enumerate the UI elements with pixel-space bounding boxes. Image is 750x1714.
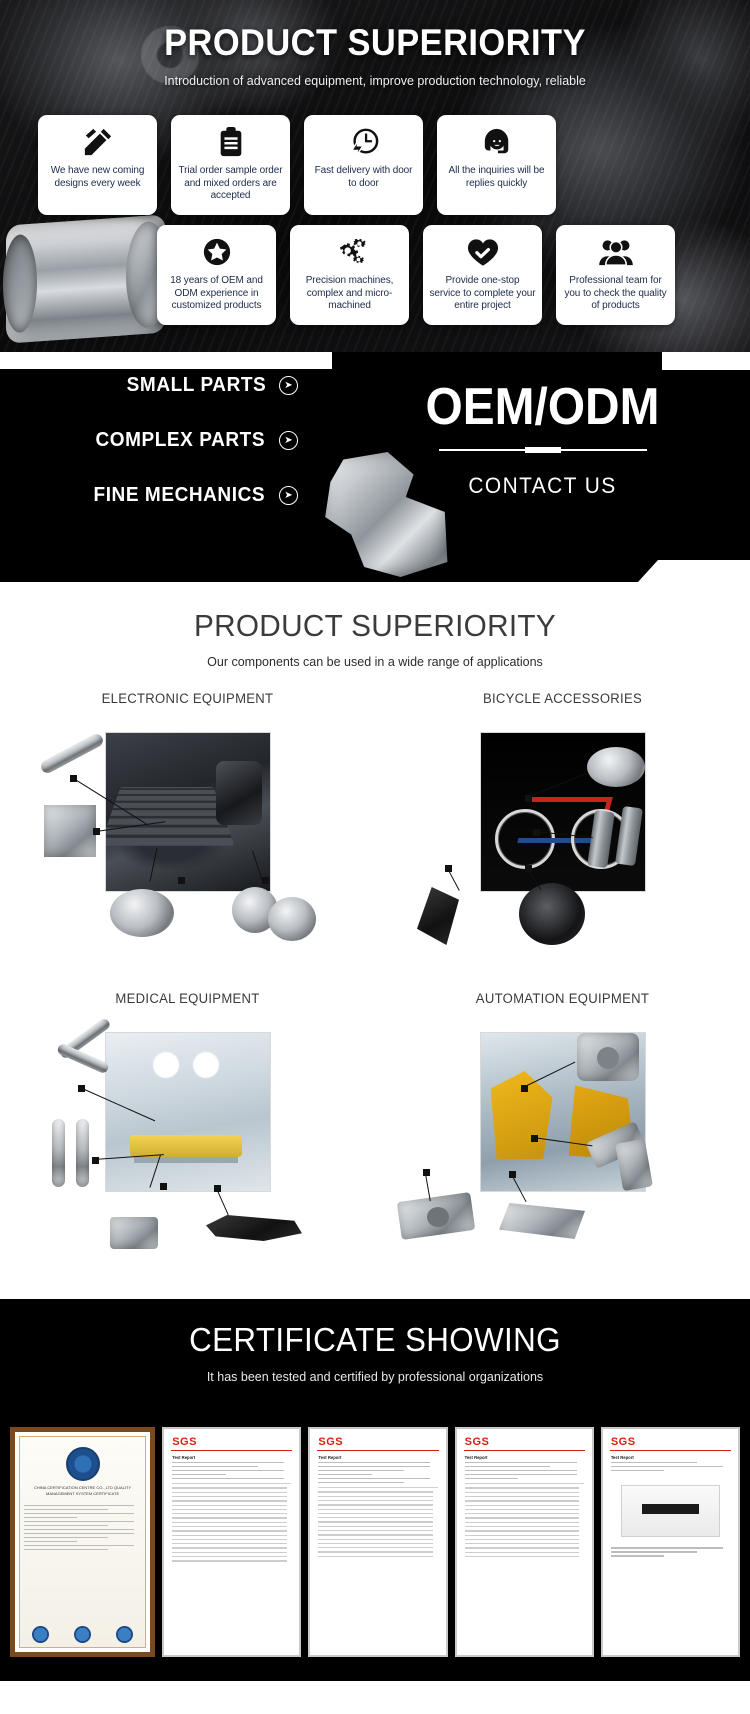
feature-card-text: All the inquiries will be replies quickl… [443,165,550,190]
feature-card[interactable]: Professional team for you to check the q… [556,225,675,325]
feature-card-text: Professional team for you to check the q… [562,275,669,313]
certificate-heading: Test Report [607,1455,734,1462]
certificate-heading: Test Report [314,1455,441,1462]
certificate-image: SGS Test Report [607,1433,734,1651]
divider [171,1450,292,1451]
certificate-body-lines [461,1462,588,1479]
feature-card[interactable]: Fast delivery with door to door [304,115,423,215]
chevron-right-circle-icon: ➤ [279,376,298,395]
chevron-right-circle-icon: ➤ [279,486,298,505]
bottom-bracket-cover-part [519,883,585,945]
callout-dot [262,877,269,884]
oem-service-label: FINE MECHANICS [94,484,266,507]
people-group-icon [599,235,633,269]
feature-card[interactable]: Trial order sample order and mixed order… [171,115,290,215]
application-label: BICYCLE ACCESSORIES [381,691,745,706]
flange-bore [597,1047,619,1069]
certificate-heading: CHINA CERTIFICATION CENTRE CO., LTD QUAL… [20,1485,145,1497]
callout-dot [423,1169,430,1176]
hero-subtitle: Introduction of advanced equipment, impr… [15,73,735,88]
callout-dot [93,828,100,835]
application-cell-electronic: ELECTRONIC EQUIPMENT [0,691,375,981]
callout-dot [521,1085,528,1092]
applications-subtitle: Our components can be used in a wide ran… [0,655,750,669]
cover-bore [427,1207,449,1227]
certificate-result-table [465,1483,584,1557]
certificate-body-lines [314,1462,441,1483]
oem-service-item-fine-mechanics[interactable]: FINE MECHANICS ➤ [0,484,340,507]
oem-headline: OEM/ODM [352,380,734,435]
callout-dot [445,865,452,872]
certificate-result-table [318,1487,437,1557]
oem-service-label: SMALL PARTS [127,374,267,397]
feature-card[interactable]: 18 years of OEM and ODM experience in cu… [157,225,276,325]
headset-support-icon [482,125,512,159]
surgical-arm-part [56,1042,110,1074]
banner-corner-notch-top-right [662,352,750,370]
certification-seal-icon [66,1447,100,1481]
divider [610,1450,731,1451]
medical-housing-part [110,1217,158,1249]
machined-washer-part [268,897,316,941]
chevron-right-circle-icon: ➤ [279,431,298,450]
derailleur-hanger-part [417,887,459,945]
bicycle-hub-part [587,747,645,787]
certificate-card[interactable]: SGS Test Report [308,1427,447,1657]
certificates-subtitle: It has been tested and certified by prof… [0,1370,750,1384]
application-label: AUTOMATION EQUIPMENT [381,991,745,1006]
star-badge-icon [202,235,232,269]
certificate-image: SGS Test Report [314,1433,441,1651]
application-label: MEDICAL EQUIPMENT [6,991,370,1006]
hero-title: PRODUCT SUPERIORITY [26,22,724,64]
heart-check-icon [467,235,499,269]
oem-service-list: SMALL PARTS ➤ COMPLEX PARTS ➤ FINE MECHA… [0,374,340,539]
banner-white-bar-left [0,352,332,369]
callout-dot [92,1157,99,1164]
valve-stem-part [76,1119,89,1187]
callout-dot [525,795,532,802]
certificate-result-table [172,1483,291,1561]
pencil-ruler-icon [83,125,113,159]
certificate-image: CHINA CERTIFICATION CENTRE CO., LTD QUAL… [19,1436,146,1648]
clock-bolt-icon [349,125,379,159]
applications-grid: ELECTRONIC EQUIPMENT BICYCLE ACCESSORIES [0,691,750,1281]
medical-linkage-part [206,1215,302,1241]
callout-dot [525,865,532,872]
feature-card-text: Provide one-stop service to complete you… [429,275,536,313]
accreditation-badge-icon [32,1626,49,1643]
clipboard-icon [218,125,244,159]
application-cell-medical: MEDICAL EQUIPMENT [0,991,375,1281]
certificate-body-lines [607,1462,734,1471]
certificate-heading: Test Report [461,1455,588,1462]
product-superiority-page: PRODUCT SUPERIORITY Introduction of adva… [0,0,750,1681]
feature-card-text: 18 years of OEM and ODM experience in cu… [163,275,270,313]
callout-dot [533,829,540,836]
oem-service-label: COMPLEX PARTS [96,429,266,452]
accreditation-badge-icon [74,1626,91,1643]
certificates-section: CERTIFICATE SHOWING It has been tested a… [0,1299,750,1681]
feature-cards-row-2: 18 years of OEM and ODM experience in cu… [0,215,750,325]
banner-corner-notch-bottom-right [658,560,750,582]
certificate-body-lines [607,1547,734,1556]
oem-headline-block: OEM/ODM CONTACT US [335,380,750,499]
accreditation-badge-icon [116,1626,133,1643]
operating-room-photo [105,1032,271,1192]
contact-us-label[interactable]: CONTACT US [345,473,739,499]
sgs-logo: SGS [607,1433,734,1450]
feature-cards: We have new coming designs every week [0,88,750,325]
gears-icon [334,235,366,269]
certificate-card[interactable]: SGS Test Report [162,1427,301,1657]
certificates-list: CHINA CERTIFICATION CENTRE CO., LTD QUAL… [10,1427,740,1657]
application-cell-bicycle: BICYCLE ACCESSORIES [375,691,750,981]
valve-stem-part [52,1119,65,1187]
accreditation-badges [20,1626,145,1643]
callout-dot [214,1185,221,1192]
machined-bracket-part [44,805,96,857]
sgs-logo: SGS [168,1433,295,1450]
feature-card[interactable]: Provide one-stop service to complete you… [423,225,542,325]
machined-pin-part [39,732,105,775]
divider [439,449,647,451]
certificate-image: SGS Test Report [168,1433,295,1651]
hero-banner: PRODUCT SUPERIORITY Introduction of adva… [0,0,750,352]
sample-photo-box [621,1485,720,1537]
callout-dot [531,1135,538,1142]
divider [464,1450,585,1451]
applications-title: PRODUCT SUPERIORITY [15,608,735,644]
callout-dot [160,1183,167,1190]
oem-service-item-complex-parts[interactable]: COMPLEX PARTS ➤ [0,429,340,452]
certificate-card[interactable]: SGS Test Report [601,1427,740,1657]
machined-cup-part [110,889,174,937]
callout-dot [178,877,185,884]
application-cell-automation: AUTOMATION EQUIPMENT [375,991,750,1281]
feature-card-text: Precision machines, complex and micro-ma… [296,275,403,313]
sgs-logo: SGS [314,1433,441,1450]
oem-odm-banner: SMALL PARTS ➤ COMPLEX PARTS ➤ FINE MECHA… [0,352,750,582]
oem-service-item-small-parts[interactable]: SMALL PARTS ➤ [0,374,340,397]
feature-cards-row-1: We have new coming designs every week [0,88,750,215]
callout-dot [78,1085,85,1092]
certificates-title: CERTIFICATE SHOWING [19,1321,732,1359]
feature-card-text: Fast delivery with door to door [310,165,417,190]
divider [317,1450,438,1451]
certificate-heading: Test Report [168,1455,295,1462]
feature-card[interactable]: Precision machines, complex and micro-ma… [290,225,409,325]
feature-card[interactable]: All the inquiries will be replies quickl… [437,115,556,215]
sgs-logo: SGS [461,1433,588,1450]
feature-card-text: Trial order sample order and mixed order… [177,165,284,203]
callout-dot [70,775,77,782]
application-label: ELECTRONIC EQUIPMENT [6,691,370,706]
certificate-card[interactable]: CHINA CERTIFICATION CENTRE CO., LTD QUAL… [10,1427,155,1657]
applications-section: PRODUCT SUPERIORITY Our components can b… [0,582,750,1299]
feature-card-text: We have new coming designs every week [44,165,151,190]
certificate-image: SGS Test Report [461,1433,588,1651]
automation-plate-part [499,1203,585,1239]
certificate-body-lines [168,1462,295,1479]
certificate-body-lines [20,1505,145,1550]
feature-card[interactable]: We have new coming designs every week [38,115,157,215]
certificate-card[interactable]: SGS Test Report [455,1427,594,1657]
callout-dot [509,1171,516,1178]
